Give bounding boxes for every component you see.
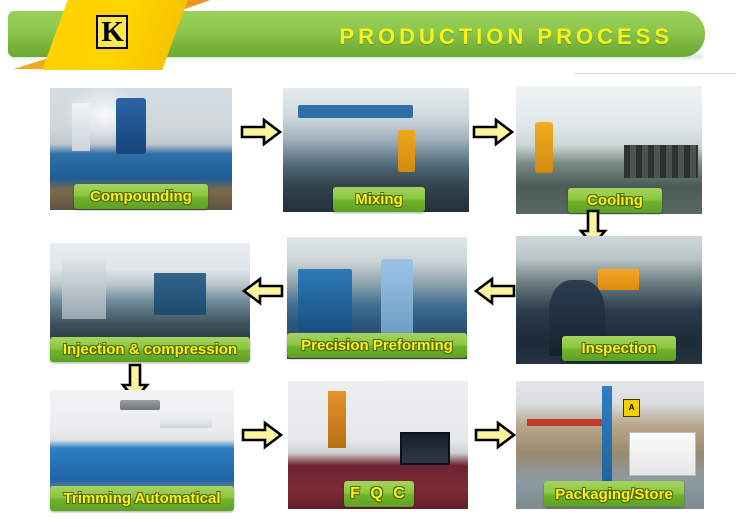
process-step-fqc[interactable]: F Q C <box>288 381 468 509</box>
arrow-inspection-to-preforming <box>474 276 516 306</box>
process-step-cooling[interactable]: Cooling <box>516 86 702 214</box>
arrow-trimming-to-fqc <box>241 420 283 450</box>
label-compounding: Compounding <box>74 184 208 209</box>
process-flow-grid: Compounding Mixing Cooling Injection & c… <box>0 78 750 527</box>
process-step-compounding[interactable]: Compounding <box>50 88 232 210</box>
warehouse-rail <box>527 419 602 425</box>
arrow-fqc-to-packaging <box>474 420 516 450</box>
arrow-compounding-to-mixing <box>240 117 282 147</box>
label-trimming-automatical: Trimming Automatical <box>50 486 234 511</box>
logo-letter: K <box>101 18 123 47</box>
label-fqc: F Q C <box>344 481 414 507</box>
label-precision-preforming: Precision Preforming <box>287 333 467 358</box>
page-header: PRODUCTION PROCESS K <box>0 0 750 78</box>
company-logo: K <box>96 15 128 49</box>
process-step-preforming[interactable]: Precision Preforming <box>287 237 467 359</box>
process-step-trimming[interactable]: Trimming Automatical <box>50 390 234 510</box>
decorative-hairline <box>575 73 735 74</box>
arrow-preforming-to-injection <box>242 276 284 306</box>
label-packaging-store: Packaging/Store <box>544 481 684 507</box>
page-title: PRODUCTION PROCESS <box>339 24 673 50</box>
label-mixing: Mixing <box>333 187 425 212</box>
process-step-packaging[interactable]: A Packaging/Store <box>516 381 704 509</box>
process-step-mixing[interactable]: Mixing <box>283 88 469 212</box>
label-injection-compression: Injection & compression <box>50 337 250 362</box>
label-inspection: Inspection <box>562 336 676 361</box>
process-step-inspection[interactable]: Inspection <box>516 236 702 364</box>
rack-tag-a: A <box>623 399 640 417</box>
photo-injection <box>50 243 250 343</box>
arrow-mixing-to-cooling <box>472 117 514 147</box>
process-step-injection[interactable]: Injection & compression <box>50 243 250 363</box>
photo-trimming <box>50 390 234 494</box>
